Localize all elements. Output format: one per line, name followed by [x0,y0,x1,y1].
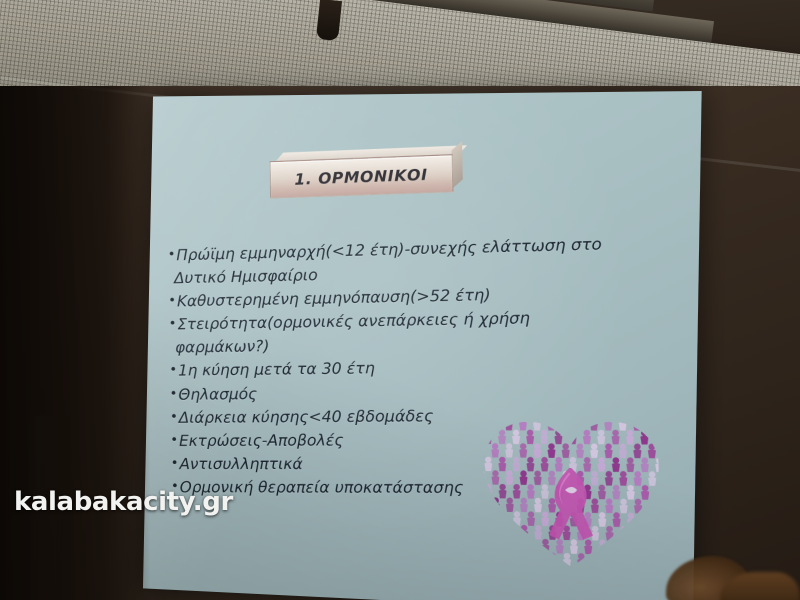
person-figure-icon [648,471,656,486]
person-figure-icon [583,457,591,472]
person-figure-icon [605,498,613,513]
person-figure-icon [491,443,499,457]
person-figure-icon [499,484,507,498]
bullet-text: Στειρότητα(ορμονικές ανεπάρκειες ή χρήση [177,309,530,334]
person-figure-icon [513,538,521,553]
person-figure-icon [590,416,598,431]
person-figure-icon [513,511,521,526]
bullet-text: φαρμάκων?) [175,337,270,357]
person-figure-icon [620,499,628,514]
person-figure-icon [620,554,628,569]
person-figure-icon [619,416,627,431]
slide-title-plaque: 1. ΟΡΜΟΝΙΚΟΙ [270,154,454,198]
person-figure-icon [540,430,548,444]
person-figure-icon [641,457,649,472]
person-figure-icon [626,457,634,472]
person-figure-icon [512,457,520,471]
person-figure-icon [492,497,500,511]
person-figure-icon [542,539,550,554]
person-figure-icon [548,443,556,458]
person-figure-icon [576,443,584,458]
bullet-dot-icon: • [168,247,176,262]
person-figure-icon [492,470,500,484]
person-figure-icon [506,525,514,540]
person-figure-icon [527,484,535,499]
person-figure-icon [641,485,649,500]
person-figure-icon [499,511,507,526]
person-figure-icon [506,552,514,567]
person-figure-icon [506,470,514,484]
person-figure-icon [492,525,500,540]
person-figure-icon [548,471,556,486]
person-figure-icon [555,457,563,472]
person-figure-icon [619,471,627,486]
person-figure-icon [655,430,663,445]
person-figure-icon [485,538,493,553]
bullet-dot-icon: • [170,386,178,401]
person-figure-icon [626,430,634,445]
person-figure-icon [598,485,606,500]
person-figure-icon [519,416,527,430]
slide-title: 1. ΟΡΜΟΝΙΚΟΙ [294,165,428,188]
person-figure-icon [641,513,649,528]
person-figure-icon [519,443,527,457]
person-figure-icon [498,457,506,471]
person-figure-icon [533,443,541,458]
person-figure-icon [478,524,486,539]
bullet-text: 1η κύηση μετά τα 30 έτη [178,359,375,380]
person-figure-icon [533,416,541,430]
person-figure-icon [549,553,557,568]
watermark: kalabakacity.gr [14,487,233,517]
person-figure-icon [640,430,648,445]
person-figure-icon [612,485,620,500]
person-figure-icon [485,511,493,526]
person-figure-icon [562,443,570,458]
person-figure-icon [484,430,492,444]
person-figure-icon [627,485,635,500]
person-figure-icon [612,430,620,445]
person-figure-icon [563,553,571,568]
person-figure-icon [656,485,664,500]
person-figure-icon [656,513,664,528]
person-figure-icon [534,525,542,540]
person-figure-icon [569,430,577,445]
person-figure-icon [613,540,621,555]
person-figure-icon [520,525,528,540]
person-figure-icon [556,539,564,554]
bullet-dot-icon: • [169,363,177,378]
person-figure-icon [547,416,555,430]
person-figure-icon [648,444,656,459]
person-figure-icon [478,497,486,511]
person-figure-icon [541,511,549,526]
person-figure-icon [561,416,569,431]
person-figure-icon [506,498,514,513]
person-figure-icon [513,484,521,499]
person-figure-icon [619,444,627,459]
person-figure-icon [598,457,606,472]
person-figure-icon [491,416,499,430]
person-figure-icon [605,443,613,458]
person-figure-icon [526,430,534,444]
person-figure-icon [627,540,635,555]
bullet-dot-icon: • [170,433,178,448]
person-figure-icon [498,430,506,444]
bullet-text: Εκτρώσεις-Αποβολές [179,431,344,450]
person-figure-icon [577,553,585,568]
person-figure-icon [554,430,562,445]
person-figure-icon [598,512,606,527]
person-figure-icon [591,526,599,541]
person-figure-icon [649,554,657,569]
person-figure-icon [535,552,543,567]
person-figure-icon [634,499,642,514]
person-figure-icon [520,552,528,567]
person-figure-icon [527,539,535,554]
bullet-dot-icon: • [170,409,178,424]
person-figure-icon [583,430,591,445]
person-figure-icon [649,526,657,541]
person-figure-icon [485,484,493,498]
person-figure-icon [613,512,621,527]
slide-surface: 1. ΟΡΜΟΝΙΚΟΙ •Πρώϊμη εμμηναρχή(<12 έτη)-… [143,91,702,600]
person-figure-icon [590,443,598,458]
person-figure-icon [534,471,542,486]
person-figure-icon [526,457,534,472]
person-figure-icon [520,498,528,513]
person-figure-icon [633,444,641,459]
person-figure-icon [642,540,650,555]
left-foreground-shadow [0,86,150,600]
person-figure-icon [620,526,628,541]
bullet-text: Διάρκεια κύησης<40 εβδομάδες [179,406,434,426]
bullet-text: Θηλασμός [178,384,257,403]
person-figure-icon [570,539,578,554]
person-figure-icon [512,430,520,444]
bullet-text: Αντισυλληπτικά [179,455,303,473]
person-figure-icon [505,416,513,430]
bullet-text: Καθυστερημένη εμμηνόπαυση(>52 έτη) [177,286,491,311]
person-figure-icon [584,539,592,554]
projection-screen: 1. ΟΡΜΟΝΙΚΟΙ •Πρώϊμη εμμηναρχή(<12 έτη)-… [143,91,702,600]
person-figure-icon [499,538,507,553]
person-figure-icon [627,512,635,527]
person-figure-icon [527,511,535,526]
person-figure-icon [635,554,643,569]
person-figure-icon [505,443,513,457]
person-figure-icon [477,416,485,430]
person-figure-icon [648,499,656,514]
person-figure-icon [647,416,655,431]
person-figure-icon [477,443,485,457]
person-figure-icon [606,526,614,541]
person-figure-icon [634,526,642,541]
person-figure-icon [592,553,600,568]
person-figure-icon [541,457,549,472]
heart-of-people-with-awareness-ribbon-icon [476,407,666,577]
person-figure-icon [633,416,641,431]
person-figure-icon [591,498,599,513]
person-figure-icon [576,416,584,431]
person-figure-icon [520,470,528,485]
plaque-face: 1. ΟΡΜΟΝΙΚΟΙ [270,154,454,198]
photo-scene: 1. ΟΡΜΟΝΙΚΟΙ •Πρώϊμη εμμηναρχή(<12 έτη)-… [0,0,800,600]
person-figure-icon [604,416,612,431]
person-figure-icon [478,470,486,484]
person-figure-icon [612,457,620,472]
person-figure-icon [599,540,607,555]
bullet-dot-icon: • [169,317,177,332]
person-figure-icon [605,471,613,486]
person-figure-icon [478,551,486,566]
person-figure-icon [484,457,492,471]
person-figure-icon [534,498,542,513]
person-figure-icon [591,471,599,486]
person-figure-icon [541,484,549,499]
person-figure-icon [634,471,642,486]
person-figure-icon [597,430,605,445]
person-figure-icon [655,457,663,472]
bullet-dot-icon: • [171,456,179,471]
person-figure-icon [548,498,556,513]
person-figure-icon [606,553,614,568]
person-figure-icon [492,552,500,567]
bullet-dot-icon: • [168,294,176,309]
person-figure-icon [656,540,664,555]
bullet-text: Δυτικό Ημισφαίριο [174,266,318,288]
